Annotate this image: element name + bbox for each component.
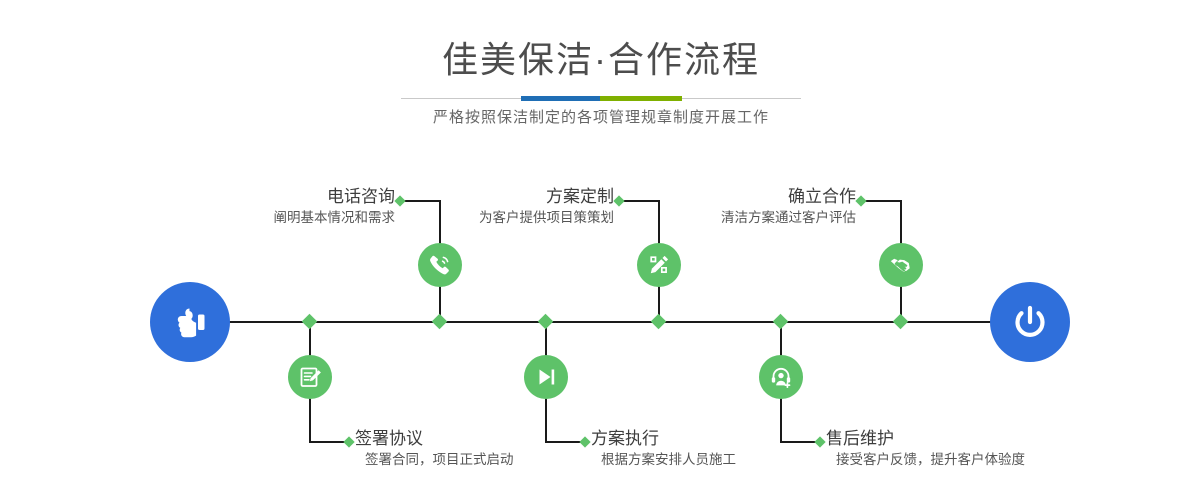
step-node-1[interactable] [418, 243, 462, 287]
step-label-6: 售后维护 接受客户反馈，提升客户体验度 [826, 428, 1106, 470]
headset-support-icon [768, 364, 794, 390]
step-node-2[interactable] [288, 355, 332, 399]
timeline-marker-5 [893, 314, 909, 330]
pencil-design-icon [646, 252, 672, 278]
step-desc-2: 签署合同，项目正式启动 [355, 450, 605, 470]
step-title-1: 电话咨询 [190, 186, 395, 208]
timeline-marker-6 [773, 314, 789, 330]
divider-segment-blue [521, 96, 600, 101]
power-icon [1008, 300, 1052, 344]
phone-call-icon [427, 252, 453, 278]
connector-tip-3 [613, 195, 624, 206]
step-node-4[interactable] [524, 355, 568, 399]
step-label-3: 方案定制 为客户提供项目策策划 [409, 186, 614, 228]
timeline-marker-3 [651, 314, 667, 330]
step-desc-1: 阐明基本情况和需求 [190, 208, 395, 228]
step-desc-5: 清洁方案通过客户评估 [651, 208, 856, 228]
document-pen-icon [297, 364, 323, 390]
connector-tip-2 [343, 436, 354, 447]
timeline-marker-1 [432, 314, 448, 330]
page-subtitle: 严格按照保洁制定的各项管理规章制度开展工作 [0, 106, 1202, 127]
connector-horizontal-5 [861, 200, 901, 202]
step-desc-6: 接受客户反馈，提升客户体验度 [826, 450, 1106, 470]
timeline-end-endcap [990, 282, 1070, 362]
step-node-5[interactable] [879, 243, 923, 287]
process-flow-infographic: 佳美保洁·合作流程 严格按照保洁制定的各项管理规章制度开展工作 [0, 0, 1202, 502]
step-node-6[interactable] [759, 355, 803, 399]
timeline-marker-4 [538, 314, 554, 330]
step-desc-4: 根据方案安排人员施工 [591, 450, 841, 470]
step-title-4: 方案执行 [591, 428, 841, 450]
step-label-2: 签署协议 签署合同，项目正式启动 [355, 428, 605, 470]
divider-segment-green [600, 96, 682, 101]
handshake-icon [888, 252, 914, 278]
step-title-3: 方案定制 [409, 186, 614, 208]
play-next-icon [533, 364, 559, 390]
step-label-4: 方案执行 根据方案安排人员施工 [591, 428, 841, 470]
timeline-marker-2 [302, 314, 318, 330]
page-title: 佳美保洁·合作流程 [0, 38, 1202, 82]
step-node-3[interactable] [637, 243, 681, 287]
step-label-5: 确立合作 清洁方案通过客户评估 [651, 186, 856, 228]
step-title-2: 签署协议 [355, 428, 605, 450]
step-title-5: 确立合作 [651, 186, 856, 208]
timeline-start-endcap [150, 282, 230, 362]
connector-tip-5 [855, 195, 866, 206]
step-title-6: 售后维护 [826, 428, 1106, 450]
step-desc-3: 为客户提供项目策策划 [409, 208, 614, 228]
connector-tip-1 [394, 195, 405, 206]
pointing-hand-icon [169, 301, 211, 343]
step-label-1: 电话咨询 阐明基本情况和需求 [190, 186, 395, 228]
title-divider [401, 96, 801, 101]
